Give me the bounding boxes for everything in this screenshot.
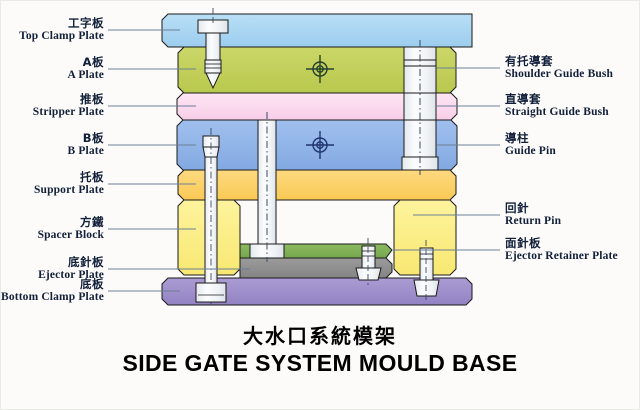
label-en: Bottom Clamp Plate — [1, 291, 104, 304]
label-a-plate: A板 A Plate — [68, 56, 105, 82]
label-stripper-plate: 推板 Stripper Plate — [33, 93, 104, 119]
label-en: Spacer Block — [38, 229, 104, 242]
label-en: Support Plate — [34, 184, 104, 197]
bottom-screw-shank — [420, 248, 433, 280]
label-cn: 有托導套 — [505, 55, 613, 68]
label-shoulder-guide-bush: 有托導套 Shoulder Guide Bush — [505, 55, 613, 81]
label-cn: 底針板 — [38, 256, 104, 269]
label-cn: 工字板 — [19, 17, 104, 30]
ejector-screw-head — [356, 268, 381, 280]
diagram-canvas: 工字板 Top Clamp Plate A板 A Plate 推板 Stripp… — [0, 0, 640, 410]
bottom-screw-head — [414, 280, 439, 296]
label-cn: 直導套 — [505, 93, 609, 106]
label-cn: 底板 — [1, 278, 104, 291]
label-en: Stripper Plate — [33, 106, 104, 119]
label-spacer-block: 方鐵 Spacer Block — [38, 216, 104, 242]
label-straight-guide-bush: 直導套 Straight Guide Bush — [505, 93, 609, 119]
label-cn: 方鐵 — [38, 216, 104, 229]
label-cn: 導柱 — [505, 132, 556, 145]
label-top-clamp-plate: 工字板 Top Clamp Plate — [19, 17, 104, 43]
label-en: Straight Guide Bush — [505, 106, 609, 119]
label-en: B Plate — [68, 145, 105, 158]
label-support-plate: 托板 Support Plate — [34, 171, 104, 197]
label-cn: A板 — [68, 56, 105, 69]
label-return-pin: 回針 Return Pin — [505, 202, 561, 228]
label-en: A Plate — [68, 69, 105, 82]
label-bottom-clamp-plate: 底板 Bottom Clamp Plate — [1, 278, 104, 304]
label-cn: 推板 — [33, 93, 104, 106]
label-en: Top Clamp Plate — [19, 30, 104, 43]
label-en: Shoulder Guide Bush — [505, 68, 613, 81]
label-en: Guide Pin — [505, 145, 556, 158]
label-cn: 面針板 — [505, 237, 618, 250]
plate-support — [178, 170, 456, 200]
label-ejector-retainer-plate: 面針板 Ejector Retainer Plate — [505, 237, 618, 263]
bottom-left-screw-socket — [196, 283, 226, 302]
ejector-screw-shank — [362, 246, 375, 268]
label-cn: 回針 — [505, 202, 561, 215]
label-en: Return Pin — [505, 215, 561, 228]
label-en: Ejector Retainer Plate — [505, 250, 618, 263]
top-screw-thread — [205, 60, 221, 73]
diagram-title: 大水口系統模架 SIDE GATE SYSTEM MOULD BASE — [0, 320, 640, 377]
label-cn: 托板 — [34, 171, 104, 184]
label-b-plate: B板 B Plate — [68, 132, 105, 158]
title-cn: 大水口系統模架 — [0, 320, 640, 349]
label-guide-pin: 導柱 Guide Pin — [505, 132, 556, 158]
title-en: SIDE GATE SYSTEM MOULD BASE — [0, 350, 640, 377]
label-cn: B板 — [68, 132, 105, 145]
